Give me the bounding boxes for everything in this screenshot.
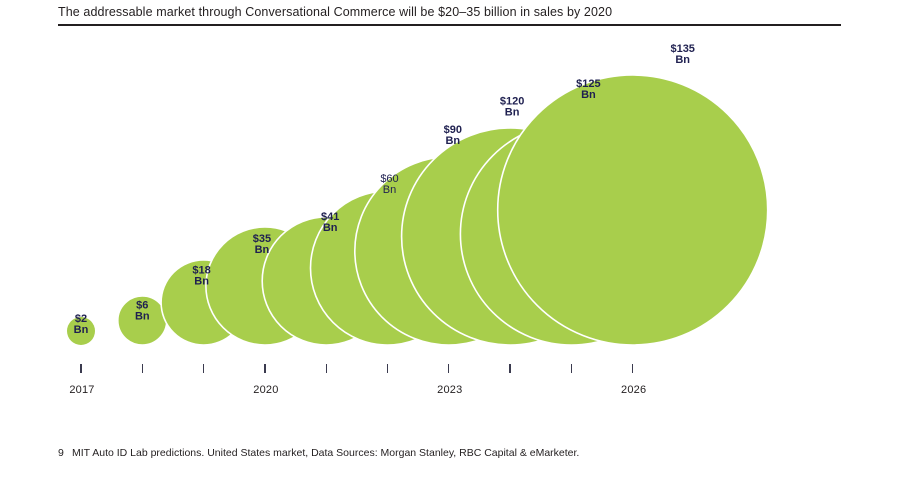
bubble-label-2018: $6Bn xyxy=(135,300,150,323)
bubble-unit: Bn xyxy=(675,54,690,66)
footnote-number: 9 xyxy=(58,446,72,461)
bubble-unit: Bn xyxy=(581,89,596,101)
bubble-label-2019: $18Bn xyxy=(192,265,210,288)
bubble-unit: Bn xyxy=(194,276,209,288)
bubble-unit: Bn xyxy=(135,311,150,323)
bubble-label-2023: $90Bn xyxy=(444,124,462,147)
bubble-label-2024: $120Bn xyxy=(500,96,524,119)
bubble-unit: Bn xyxy=(74,324,89,336)
bubble-2026[interactable] xyxy=(498,75,768,345)
bubble-label-2022: $60Bn xyxy=(380,173,398,196)
bubble-label-2020: $35Bn xyxy=(253,233,271,256)
bubble-unit: Bn xyxy=(505,107,520,119)
bubble-series: $2Bn$6Bn$18Bn$35Bn$41Bn$60Bn$90Bn$120Bn$… xyxy=(0,0,908,430)
bubble-unit: Bn xyxy=(445,135,460,147)
bubble-label-2026: $135Bn xyxy=(670,43,694,66)
slide-canvas: The addressable market through Conversat… xyxy=(0,0,908,496)
bubble-unit: Bn xyxy=(255,244,270,256)
bubble-label-2017: $2Bn xyxy=(74,313,89,336)
bubble-svg: $2Bn$6Bn$18Bn$35Bn$41Bn$60Bn$90Bn$120Bn$… xyxy=(0,0,908,430)
bubble-unit: Bn xyxy=(383,184,396,196)
bubble-unit: Bn xyxy=(323,222,338,234)
bubble-label-2021: $41Bn xyxy=(321,211,339,234)
footnote: 9 MIT Auto ID Lab predictions. United St… xyxy=(58,446,618,461)
bubble-chart: $2Bn$6Bn$18Bn$35Bn$41Bn$60Bn$90Bn$120Bn$… xyxy=(0,0,908,430)
footnote-text: MIT Auto ID Lab predictions. United Stat… xyxy=(72,446,618,461)
